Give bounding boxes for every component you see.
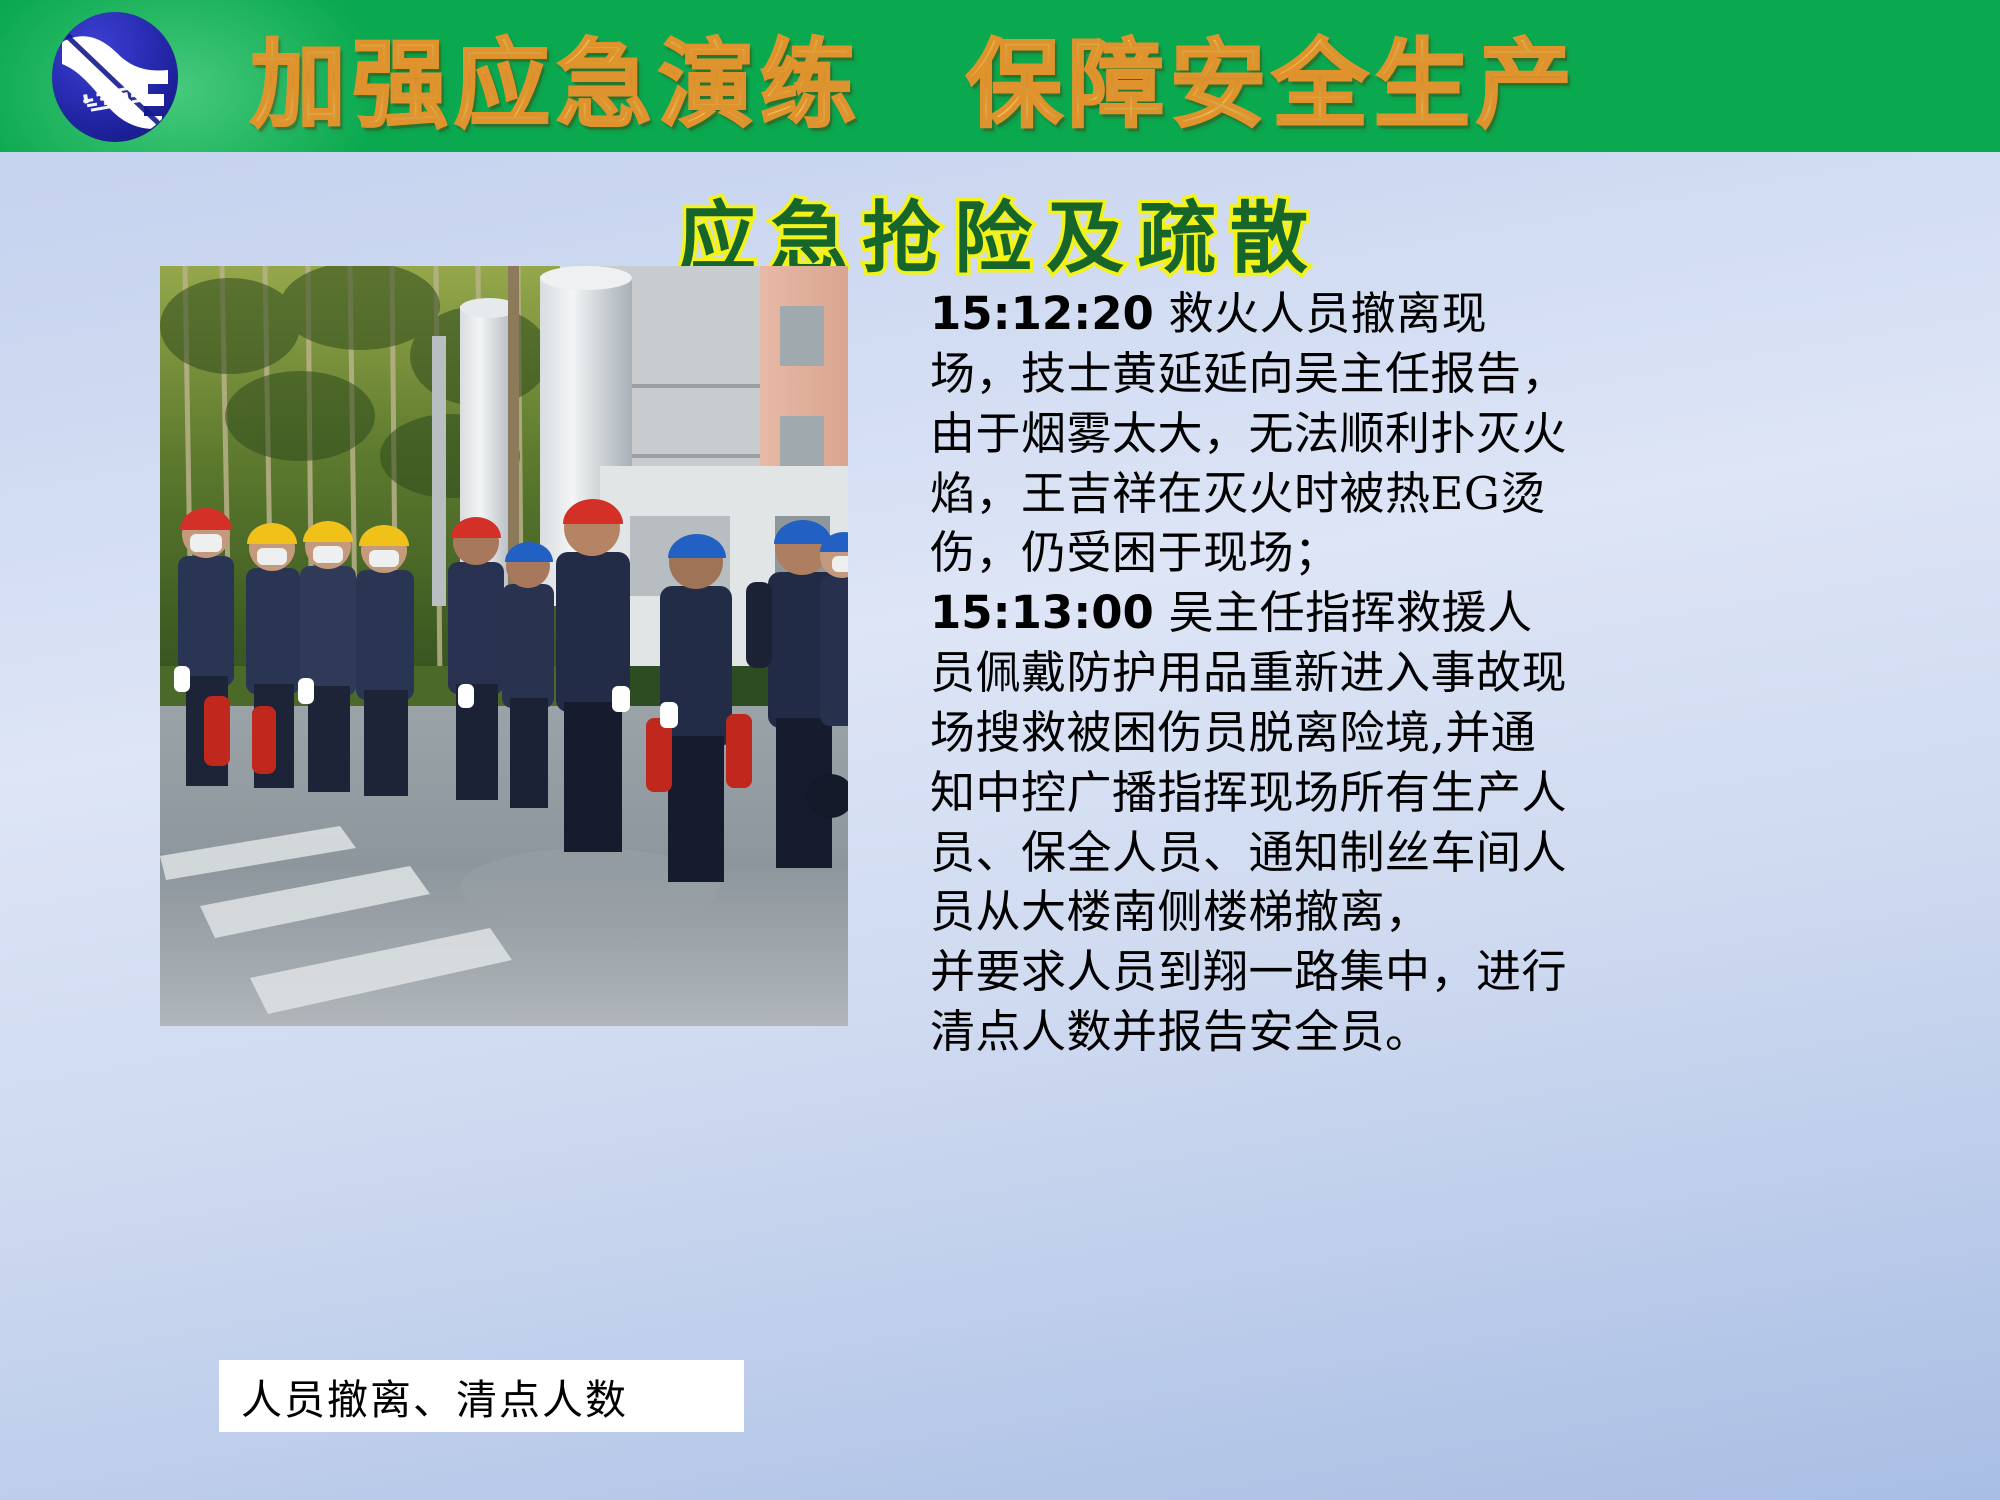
photo-caption-box: 人员撤离、清点人数: [219, 1360, 744, 1432]
photo-content: [160, 266, 848, 1026]
narrative-text-3: 并要求人员到翔一路集中，进行清点人数并报告安全员。: [930, 945, 1567, 1058]
narrative-text-block: 15:12:20 救火人员撤离现场，技士黄延延向吴主任报告，由于烟雾太大，无法顺…: [930, 284, 1570, 1062]
emergency-drill-photo: [160, 266, 848, 1026]
logo-bird-icon: [44, 8, 184, 146]
banner-headline-right: 保障安全生产: [966, 7, 1578, 146]
timestamp-1: 15:12:20: [930, 287, 1154, 340]
company-logo: [44, 8, 184, 146]
header-banner: 加强应急演练 保障安全生产: [0, 0, 2000, 152]
banner-headline: 加强应急演练 保障安全生产: [250, 0, 1990, 152]
narrative-paragraph-3: 并要求人员到翔一路集中，进行清点人数并报告安全员。: [930, 942, 1570, 1062]
narrative-paragraph-1: 15:12:20 救火人员撤离现场，技士黄延延向吴主任报告，由于烟雾太大，无法顺…: [930, 284, 1570, 583]
banner-headline-left: 加强应急演练: [250, 7, 862, 146]
photo-caption-text: 人员撤离、清点人数: [219, 1366, 628, 1426]
narrative-paragraph-2: 15:13:00 吴主任指挥救援人员佩戴防护用品重新进入事故现场搜救被困伤员脱离…: [930, 583, 1570, 942]
timestamp-2: 15:13:00: [930, 586, 1154, 639]
